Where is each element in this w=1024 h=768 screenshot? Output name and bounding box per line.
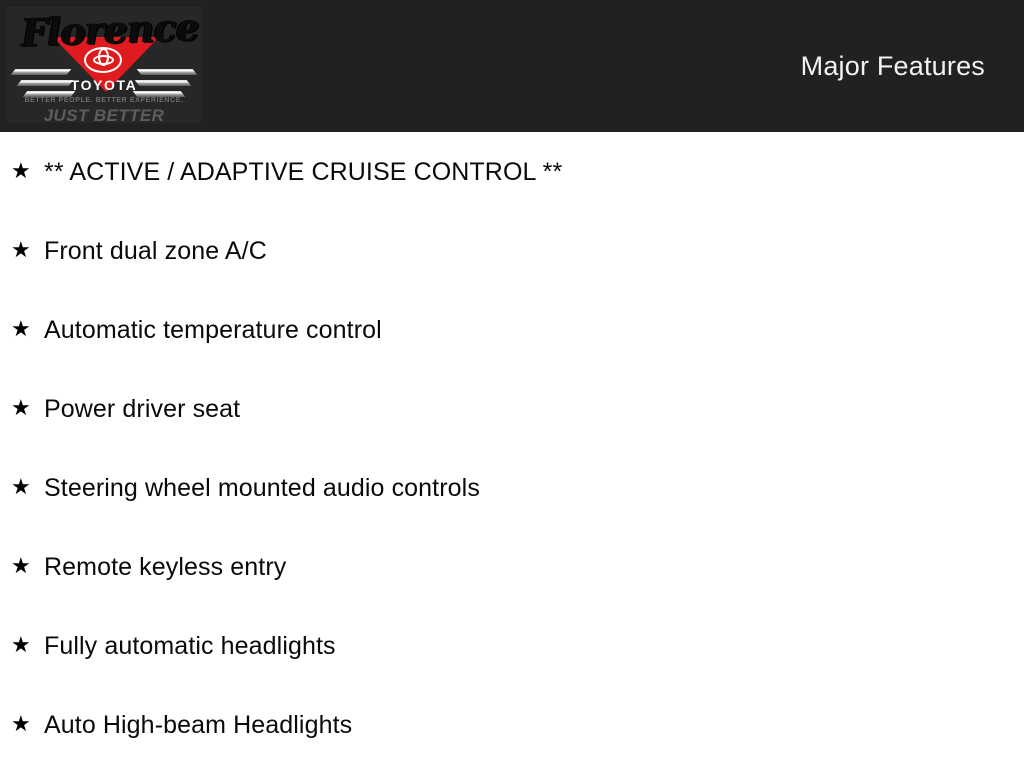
logo-dealer-name: Florence [18,7,201,54]
slide-header: TOYOTA Florence BETTER PEOPLE. BETTER EX… [0,0,1024,132]
star-bullet-icon: ★ [11,477,44,499]
list-item: ★ Steering wheel mounted audio controls [0,448,1024,527]
page-title: Major Features [801,50,985,82]
feature-label: Remote keyless entry [44,552,286,582]
feature-label: Power driver seat [44,394,240,424]
list-item: ★ Automatic temperature control [0,290,1024,369]
star-bullet-icon: ★ [11,319,44,341]
star-bullet-icon: ★ [11,161,44,183]
list-item: ★ Power driver seat [0,369,1024,448]
feature-label: Automatic temperature control [44,315,382,345]
logo-tagline-secondary: JUST BETTER [7,106,201,123]
feature-label: ** ACTIVE / ADAPTIVE CRUISE CONTROL ** [44,157,562,187]
logo-tagline-primary: BETTER PEOPLE. BETTER EXPERIENCE. [7,97,201,104]
list-item: ★ Front dual zone A/C [0,211,1024,290]
list-item: ★ Remote keyless entry [0,527,1024,606]
feature-label: Fully automatic headlights [44,631,336,661]
features-list: ★ ** ACTIVE / ADAPTIVE CRUISE CONTROL **… [0,132,1024,768]
star-bullet-icon: ★ [11,240,44,262]
star-bullet-icon: ★ [11,556,44,578]
dealer-logo: TOYOTA Florence BETTER PEOPLE. BETTER EX… [7,7,201,123]
logo-brand-text: TOYOTA [7,77,201,93]
feature-slide: TOYOTA Florence BETTER PEOPLE. BETTER EX… [0,0,1024,768]
list-item: ★ ** ACTIVE / ADAPTIVE CRUISE CONTROL ** [0,132,1024,211]
list-item: ★ Fully automatic headlights [0,606,1024,685]
feature-label: Steering wheel mounted audio controls [44,473,480,503]
list-item: ★ Auto High-beam Headlights [0,685,1024,764]
star-bullet-icon: ★ [11,714,44,736]
logo-artwork: TOYOTA Florence BETTER PEOPLE. BETTER EX… [7,7,201,123]
feature-label: Front dual zone A/C [44,236,267,266]
feature-label: Auto High-beam Headlights [44,710,352,740]
star-bullet-icon: ★ [11,635,44,657]
star-bullet-icon: ★ [11,398,44,420]
